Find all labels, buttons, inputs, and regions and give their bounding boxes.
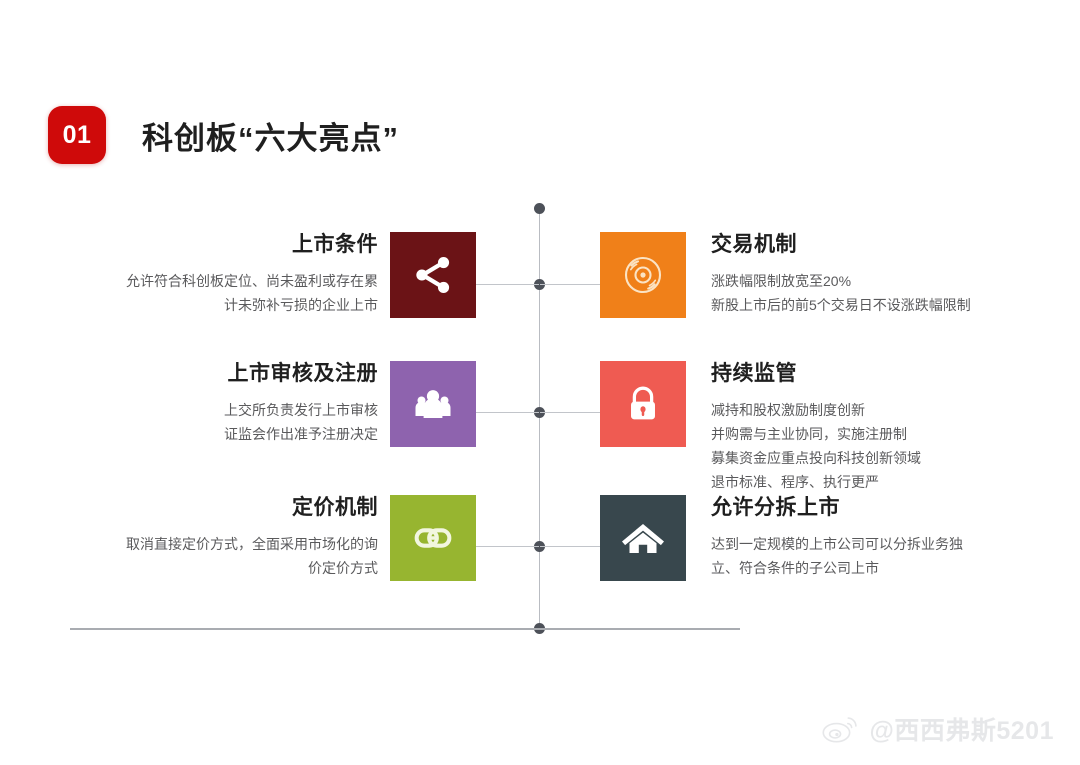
highlight-text-review-registration: 上市审核及注册 上交所负责发行上市审核 证监会作出准予注册决定 xyxy=(40,361,390,446)
six-highlights-diagram: 上市条件 允许符合科创板定位、尚未盈利或存在累 计未弥补亏损的企业上市 xyxy=(0,0,1080,765)
chain-link-icon xyxy=(408,513,458,563)
highlight-text-listing-conditions: 上市条件 允许符合科创板定位、尚未盈利或存在累 计未弥补亏损的企业上市 xyxy=(40,232,390,317)
diagram-baseline xyxy=(70,628,740,630)
share-icon xyxy=(410,252,456,298)
highlight-text-pricing-mechanism: 定价机制 取消直接定价方式，全面采用市场化的询 价定价方式 xyxy=(40,495,390,580)
desc-line: 达到一定规模的上市公司可以分拆业务独 xyxy=(711,532,1051,556)
tile-slot-right-row-3 xyxy=(600,495,686,581)
watermark-text: @西西弗斯5201 xyxy=(870,719,1055,744)
highlight-title-listing-conditions: 上市条件 xyxy=(40,232,378,258)
tile-pricing-mechanism[interactable] xyxy=(390,495,476,581)
highlight-text-ongoing-supervision: 持续监管 减持和股权激励制度创新 并购需与主业协同，实施注册制 募集资金应重点投… xyxy=(711,361,1051,495)
desc-line: 新股上市后的前5个交易日不设涨跌幅限制 xyxy=(711,293,1051,317)
tile-slot-left-row-2 xyxy=(390,361,476,447)
tile-slot-right-row-1 xyxy=(600,232,686,318)
diagram-row-3: 定价机制 取消直接定价方式，全面采用市场化的询 价定价方式 xyxy=(0,495,1080,581)
desc-line: 允许符合科创板定位、尚未盈利或存在累 xyxy=(40,269,378,293)
desc-line: 上交所负责发行上市审核 xyxy=(40,398,378,422)
highlight-title-pricing-mechanism: 定价机制 xyxy=(40,495,378,521)
desc-line: 减持和股权激励制度创新 xyxy=(711,398,1051,422)
weibo-logo-icon xyxy=(821,714,861,749)
highlight-title-ongoing-supervision: 持续监管 xyxy=(711,361,1051,387)
diagram-row-1: 上市条件 允许符合科创板定位、尚未盈利或存在累 计未弥补亏损的企业上市 xyxy=(0,232,1080,318)
highlight-desc-review-registration: 上交所负责发行上市审核 证监会作出准予注册决定 xyxy=(40,398,378,446)
highlight-title-spinoff-listing: 允许分拆上市 xyxy=(711,495,1051,521)
desc-line: 价定价方式 xyxy=(40,556,378,580)
desc-line: 涨跌幅限制放宽至20% xyxy=(711,269,1051,293)
spine-dot-top xyxy=(534,203,545,214)
tile-review-registration[interactable] xyxy=(390,361,476,447)
desc-line: 立、符合条件的子公司上市 xyxy=(711,556,1051,580)
tile-slot-right-row-2 xyxy=(600,361,686,447)
highlight-desc-ongoing-supervision: 减持和股权激励制度创新 并购需与主业协同，实施注册制 募集资金应重点投向科技创新… xyxy=(711,398,1051,494)
disc-icon xyxy=(619,251,667,299)
highlight-desc-pricing-mechanism: 取消直接定价方式，全面采用市场化的询 价定价方式 xyxy=(40,532,378,580)
desc-line: 并购需与主业协同，实施注册制 xyxy=(711,422,1051,446)
desc-line: 募集资金应重点投向科技创新领域 xyxy=(711,446,1051,470)
desc-line: 计未弥补亏损的企业上市 xyxy=(40,293,378,317)
desc-line: 退市标准、程序、执行更严 xyxy=(711,470,1051,494)
highlight-title-trading-mechanism: 交易机制 xyxy=(711,232,1051,258)
lock-icon xyxy=(620,381,666,427)
tile-spinoff-listing[interactable] xyxy=(600,495,686,581)
tile-slot-left-row-1 xyxy=(390,232,476,318)
people-group-icon xyxy=(409,380,457,428)
tile-ongoing-supervision[interactable] xyxy=(600,361,686,447)
tile-slot-left-row-3 xyxy=(390,495,476,581)
highlight-desc-listing-conditions: 允许符合科创板定位、尚未盈利或存在累 计未弥补亏损的企业上市 xyxy=(40,269,378,317)
home-icon xyxy=(619,514,667,562)
diagram-row-2: 上市审核及注册 上交所负责发行上市审核 证监会作出准予注册决定 xyxy=(0,361,1080,495)
highlight-text-spinoff-listing: 允许分拆上市 达到一定规模的上市公司可以分拆业务独 立、符合条件的子公司上市 xyxy=(711,495,1051,580)
tile-trading-mechanism[interactable] xyxy=(600,232,686,318)
highlight-desc-spinoff-listing: 达到一定规模的上市公司可以分拆业务独 立、符合条件的子公司上市 xyxy=(711,532,1051,580)
highlight-desc-trading-mechanism: 涨跌幅限制放宽至20% 新股上市后的前5个交易日不设涨跌幅限制 xyxy=(711,269,1051,317)
highlight-text-trading-mechanism: 交易机制 涨跌幅限制放宽至20% 新股上市后的前5个交易日不设涨跌幅限制 xyxy=(711,232,1051,317)
desc-line: 取消直接定价方式，全面采用市场化的询 xyxy=(40,532,378,556)
highlight-title-review-registration: 上市审核及注册 xyxy=(40,361,378,387)
desc-line: 证监会作出准予注册决定 xyxy=(40,422,378,446)
tile-listing-conditions[interactable] xyxy=(390,232,476,318)
watermark: @西西弗斯5201 xyxy=(821,714,1055,749)
